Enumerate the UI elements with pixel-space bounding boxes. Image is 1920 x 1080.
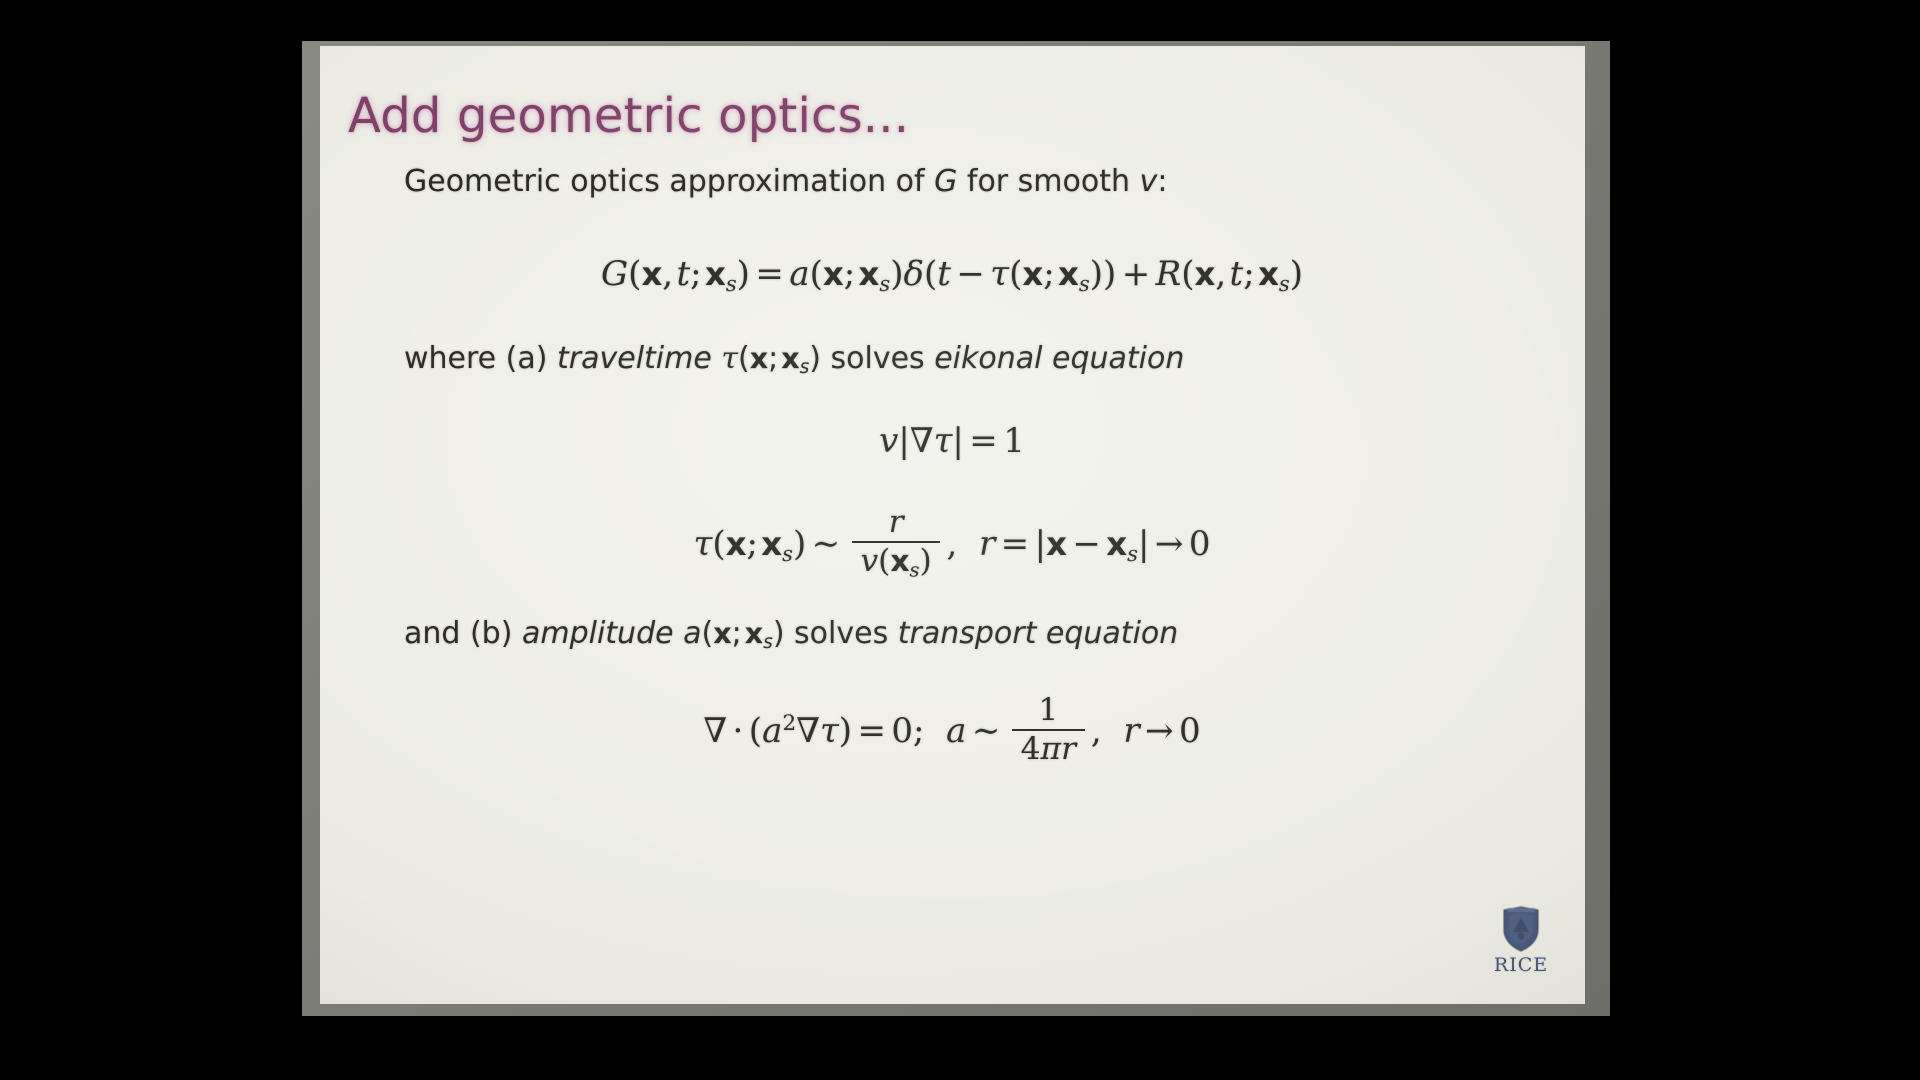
fraction-one-over-four-pi-r: 14πr [1012, 694, 1085, 768]
slide-photo-canvas: Add geometric optics... Geometric optics… [0, 0, 1920, 1080]
emphasis-traveltime: traveltime [557, 341, 712, 376]
subtitle-colon: : [1157, 164, 1167, 199]
emphasis-transport-equation: transport equation [898, 616, 1179, 651]
where-lead: where (a) [404, 341, 557, 376]
emphasis-amplitude: amplitude [522, 616, 674, 651]
symbol-v: v [1140, 164, 1158, 199]
subtitle-lead: Geometric optics approximation of [404, 164, 934, 199]
and-lead: and (b) [404, 616, 522, 651]
shield-icon [1501, 906, 1541, 952]
and-amplitude-line: and (b) amplitude a(x; xs) solves transp… [404, 616, 1178, 653]
slide-content: Add geometric optics... Geometric optics… [320, 46, 1585, 1004]
equation-transport: ∇·(a2∇τ)=0; a∼14πr, r→0 [402, 696, 1502, 770]
emphasis-eikonal-equation: eikonal equation [934, 341, 1184, 376]
slide-surface: Add geometric optics... Geometric optics… [320, 46, 1585, 1004]
rice-wordmark: RICE [1489, 954, 1553, 976]
subtitle-mid: for smooth [957, 164, 1139, 199]
where-traveltime-line: where (a) traveltime τ(x; xs) solves eik… [404, 341, 1184, 378]
fraction-r-over-v: rv(xs) [852, 506, 941, 582]
symbol-G: G [934, 164, 957, 199]
subtitle-line: Geometric optics approximation of G for … [404, 164, 1167, 199]
equation-eikonal: v|∇τ|=1 [402, 421, 1502, 461]
rice-university-logo: RICE [1489, 906, 1553, 976]
equation-traveltime-asymptotics: τ(x; xs)∼rv(xs), r=|x−xs|→0 [402, 508, 1502, 584]
equation-greens-function: G(x, t; xs)=a(x; xs)δ(t−τ(x; xs))+R(x, t… [402, 254, 1502, 296]
slide-title: Add geometric optics... [348, 88, 909, 144]
projected-slide-frame: Add geometric optics... Geometric optics… [302, 41, 1610, 1016]
